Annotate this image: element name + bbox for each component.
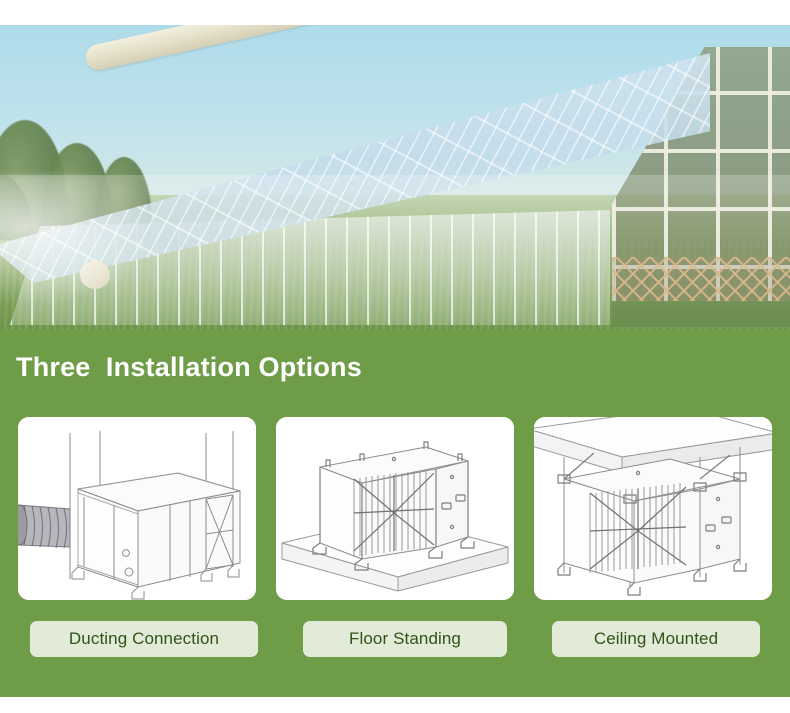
greenhouse-hero-image — [0, 25, 790, 330]
floor-standing-diagram — [276, 417, 514, 600]
label-ducting-connection[interactable]: Ducting Connection — [30, 621, 258, 657]
card-ducting-connection[interactable] — [18, 417, 256, 600]
installation-labels: Ducting Connection Floor Standing Ceilin… — [18, 621, 772, 657]
label-floor-standing[interactable]: Floor Standing — [303, 621, 507, 657]
card-floor-standing[interactable] — [276, 417, 514, 600]
bottom-white-strip — [0, 697, 790, 713]
section-title: Three Installation Options — [16, 352, 362, 383]
product-feature-page: Three Installation Options — [0, 0, 790, 713]
top-white-strip — [0, 0, 790, 25]
card-ceiling-mounted[interactable] — [534, 417, 772, 600]
photo-haze-overlay — [0, 175, 790, 330]
ducting-connection-diagram — [18, 417, 256, 600]
label-ceiling-mounted[interactable]: Ceiling Mounted — [552, 621, 760, 657]
installation-cards — [18, 417, 772, 600]
ceiling-mounted-diagram — [534, 417, 772, 600]
